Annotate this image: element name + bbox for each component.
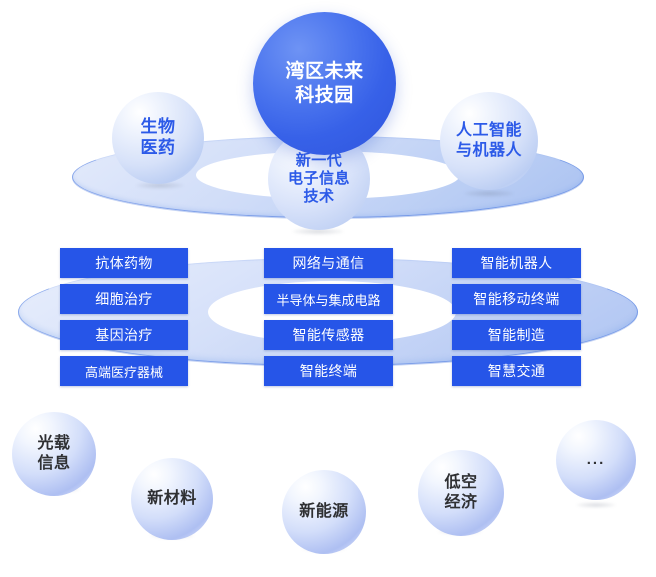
- tag-item[interactable]: 智能传感器: [264, 320, 393, 350]
- industry-ecosystem-diagram: 生物 医药 新一代 电子信息 技术 人工智能 与机器人 湾区未来 科技园 抗体药…: [0, 0, 656, 577]
- pillar-ai-line1: 人工智能: [456, 121, 522, 141]
- pillar-bio-line1: 生物: [141, 117, 176, 138]
- emerging-optical-line1: 光载: [37, 434, 70, 454]
- emerging-optical-line2: 信息: [37, 454, 70, 474]
- tag-item[interactable]: 智能机器人: [452, 248, 581, 278]
- emerging-sphere-more[interactable]: ...: [556, 420, 636, 500]
- tag-item[interactable]: 细胞治疗: [60, 284, 188, 314]
- emerging-material-line1: 新材料: [147, 489, 197, 509]
- pillar-ai-line2: 与机器人: [456, 141, 522, 161]
- emerging-sphere-optical-info[interactable]: 光载 信息: [12, 412, 96, 496]
- tag-item[interactable]: 智慧交通: [452, 356, 581, 386]
- pillar-bio-line2: 医药: [141, 138, 176, 159]
- more-sphere-shadow: [576, 502, 616, 508]
- tag-item[interactable]: 基因治疗: [60, 320, 188, 350]
- hub-title-line1: 湾区未来: [285, 60, 363, 83]
- tag-item[interactable]: 抗体药物: [60, 248, 188, 278]
- tag-item[interactable]: 高端医疗器械: [60, 356, 188, 386]
- tag-item[interactable]: 智能制造: [452, 320, 581, 350]
- emerging-lowalt-line1: 低空: [444, 473, 477, 493]
- tag-column-biomedicine: 抗体药物 细胞治疗 基因治疗 高端医疗器械: [60, 248, 188, 386]
- emerging-energy-line1: 新能源: [299, 502, 349, 522]
- pillar-ict-line2: 电子信息: [288, 170, 350, 188]
- tag-column-ict: 网络与通信 半导体与集成电路 智能传感器 智能终端: [264, 248, 393, 386]
- emerging-sphere-new-energy[interactable]: 新能源: [282, 470, 366, 554]
- tag-item[interactable]: 智能移动终端: [452, 284, 581, 314]
- emerging-more-ellipsis: ...: [587, 451, 606, 469]
- tag-item[interactable]: 智能终端: [264, 356, 393, 386]
- ai-sphere-shadow: [464, 190, 514, 197]
- pillar-sphere-biomedicine[interactable]: 生物 医药: [112, 92, 204, 184]
- emerging-sphere-low-altitude-economy[interactable]: 低空 经济: [418, 450, 504, 536]
- tag-item[interactable]: 半导体与集成电路: [264, 284, 393, 314]
- emerging-lowalt-line2: 经济: [444, 493, 477, 513]
- pillar-sphere-ai-robotics[interactable]: 人工智能 与机器人: [440, 92, 538, 190]
- tag-column-ai: 智能机器人 智能移动终端 智能制造 智慧交通: [452, 248, 581, 386]
- emerging-sphere-new-materials[interactable]: 新材料: [131, 458, 213, 540]
- pillar-ict-line3: 技术: [288, 188, 350, 206]
- hub-title-line2: 科技园: [285, 84, 363, 107]
- hub-sphere[interactable]: 湾区未来 科技园: [253, 12, 396, 155]
- tag-item[interactable]: 网络与通信: [264, 248, 393, 278]
